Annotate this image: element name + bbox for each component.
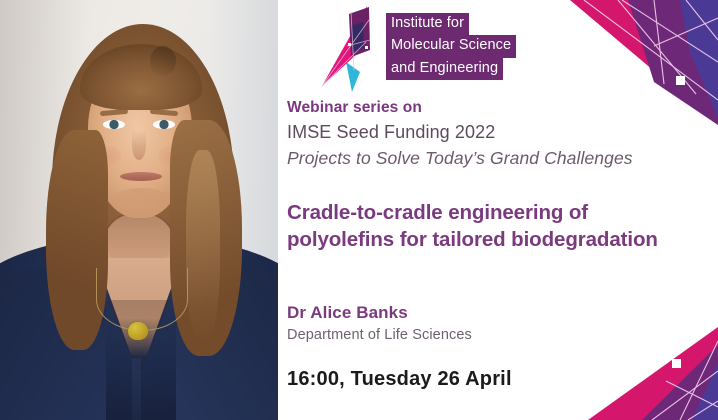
talk-title: Cradle-to-cradle engineering of polyolef… [287, 200, 665, 253]
speaker-block: Dr Alice Banks Department of Life Scienc… [287, 303, 472, 343]
portrait-hair-parting [150, 46, 176, 76]
portrait-necklace-chain [96, 268, 188, 331]
portrait-nose [132, 130, 146, 160]
bottom-right-geometric-graphic [588, 315, 718, 420]
speaker-portrait [0, 0, 278, 420]
poster-content-panel: Institute for Molecular Science and Engi… [278, 0, 718, 420]
series-line-1: Webinar series on [287, 96, 707, 119]
deco-node-top [676, 76, 685, 85]
portrait-hair-left-side [46, 130, 108, 350]
speaker-department: Department of Life Sciences [287, 327, 472, 343]
portrait-eye-left [103, 120, 125, 129]
imse-logo-mark-icon [318, 4, 380, 92]
speaker-name: Dr Alice Banks [287, 303, 472, 323]
portrait-mouth [120, 172, 162, 181]
event-datetime: 16:00, Tuesday 26 April [287, 368, 512, 391]
webinar-series-heading: Webinar series on IMSE Seed Funding 2022… [287, 96, 707, 170]
webinar-poster: Institute for Molecular Science and Engi… [0, 0, 718, 420]
logo-line-3: and Engineering [386, 58, 503, 80]
portrait-eye-right [153, 120, 175, 129]
deco-node-bottom [672, 359, 681, 368]
portrait-necklace-pendant [128, 322, 148, 340]
portrait-hair-highlight [186, 150, 220, 340]
portrait-neck-shadow [104, 214, 174, 264]
imse-logo: Institute for Molecular Science and Engi… [318, 4, 516, 92]
logo-line-1: Institute for [386, 13, 469, 35]
imse-logo-wordmark: Institute for Molecular Science and Engi… [386, 13, 516, 80]
logo-line-2: Molecular Science [386, 35, 516, 57]
portrait-chin [114, 188, 168, 206]
series-line-2: IMSE Seed Funding 2022 [287, 119, 707, 145]
series-line-3: Projects to Solve Today’s Grand Challeng… [287, 146, 707, 171]
